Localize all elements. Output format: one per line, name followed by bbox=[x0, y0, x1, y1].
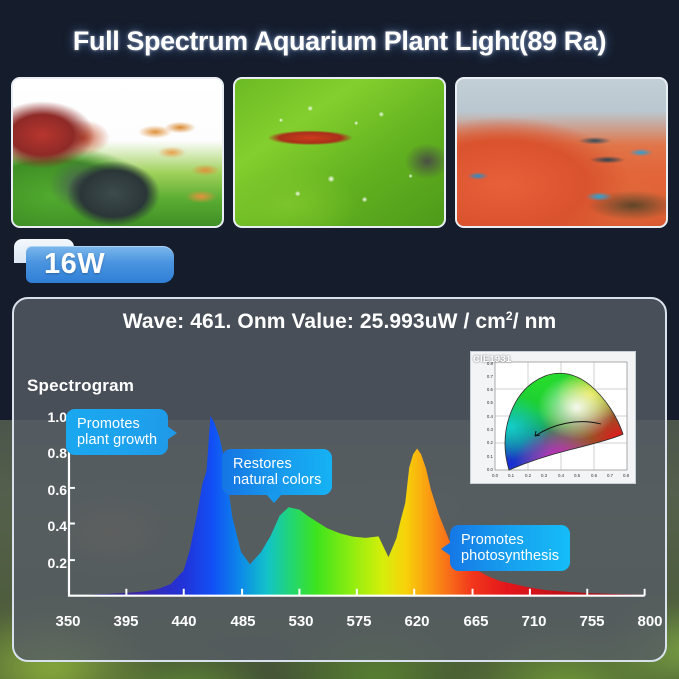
x-axis-tick-label: 350 bbox=[45, 614, 91, 630]
x-axis-tick-label: 620 bbox=[394, 614, 440, 630]
x-axis-tick-label: 575 bbox=[336, 614, 382, 630]
photo-red-plants-tetras bbox=[455, 77, 668, 228]
y-axis-tick-label: 0.8 bbox=[33, 446, 67, 460]
y-axis-tick-label: 1.0 bbox=[33, 410, 67, 424]
svg-text:0.7: 0.7 bbox=[487, 374, 494, 379]
svg-text:0.3: 0.3 bbox=[487, 427, 494, 432]
x-axis-tick-label: 530 bbox=[278, 614, 324, 630]
cie-chart-title: CIE1931 bbox=[473, 354, 511, 365]
y-axis-tick-label: 0.6 bbox=[33, 483, 67, 497]
svg-text:0.5: 0.5 bbox=[574, 473, 581, 478]
svg-text:0.3: 0.3 bbox=[541, 473, 548, 478]
svg-text:0.6: 0.6 bbox=[487, 387, 494, 392]
svg-text:0.1: 0.1 bbox=[487, 454, 494, 459]
svg-text:0.8: 0.8 bbox=[623, 473, 630, 478]
cie-y-tick-labels: 0.8 0.7 0.6 0.5 0.4 0.3 0.2 0.1 0.0 bbox=[487, 361, 494, 472]
product-infographic: Full Spectrum Aquarium Plant Light(89 Ra… bbox=[0, 0, 679, 679]
y-axis-tick-label: 0.2 bbox=[33, 556, 67, 570]
x-axis-tick-label: 440 bbox=[161, 614, 207, 630]
power-badge: 16W bbox=[14, 239, 174, 283]
cie-x-tick-labels: 0.0 0.1 0.2 0.3 0.4 0.5 0.6 0.7 0.8 bbox=[492, 473, 630, 478]
svg-text:0.7: 0.7 bbox=[607, 473, 614, 478]
photo-red-plants-tetras-image bbox=[457, 79, 666, 226]
x-axis-tick-label: 800 bbox=[627, 614, 667, 630]
svg-text:0.4: 0.4 bbox=[558, 473, 565, 478]
svg-text:0.2: 0.2 bbox=[487, 440, 494, 445]
svg-text:0.5: 0.5 bbox=[487, 400, 494, 405]
svg-text:0.0: 0.0 bbox=[487, 467, 494, 472]
callout-promotes-photosynthesis: Promotes photosynthesis bbox=[450, 525, 570, 571]
photo-red-fish-bubbles-image bbox=[235, 79, 444, 226]
svg-text:0.2: 0.2 bbox=[525, 473, 532, 478]
photo-red-fish-bubbles bbox=[233, 77, 446, 228]
page-title: Full Spectrum Aquarium Plant Light(89 Ra… bbox=[0, 26, 679, 57]
svg-text:0.4: 0.4 bbox=[487, 414, 494, 419]
x-axis-tick-label: 485 bbox=[220, 614, 266, 630]
callout-restores-natural-colors: Restores natural colors bbox=[222, 449, 332, 495]
x-axis-tick-label: 755 bbox=[569, 614, 615, 630]
callout-promotes-plant-growth: Promotes plant growth bbox=[66, 409, 168, 455]
photo-planted-aquascape-image bbox=[13, 79, 222, 226]
x-axis-tick-label: 710 bbox=[511, 614, 557, 630]
y-axis-tick-label: 0.4 bbox=[33, 519, 67, 533]
power-badge-label: 16W bbox=[44, 249, 164, 280]
cie-chromaticity-inset: 0.8 0.7 0.6 0.5 0.4 0.3 0.2 0.1 0.0 0.0 … bbox=[470, 351, 636, 484]
x-axis-tick-label: 395 bbox=[103, 614, 149, 630]
x-axis-tick-label: 665 bbox=[453, 614, 499, 630]
photo-planted-aquascape bbox=[11, 77, 224, 228]
svg-text:0.6: 0.6 bbox=[591, 473, 598, 478]
product-photo-strip bbox=[11, 77, 668, 228]
svg-text:0.0: 0.0 bbox=[492, 473, 499, 478]
svg-text:0.1: 0.1 bbox=[508, 473, 515, 478]
cie-chromaticity-diagram: 0.8 0.7 0.6 0.5 0.4 0.3 0.2 0.1 0.0 0.0 … bbox=[473, 354, 633, 481]
spectrogram-panel: Wave: 461. Onm Value: 25.993uW / cm2/ nm… bbox=[12, 297, 667, 662]
